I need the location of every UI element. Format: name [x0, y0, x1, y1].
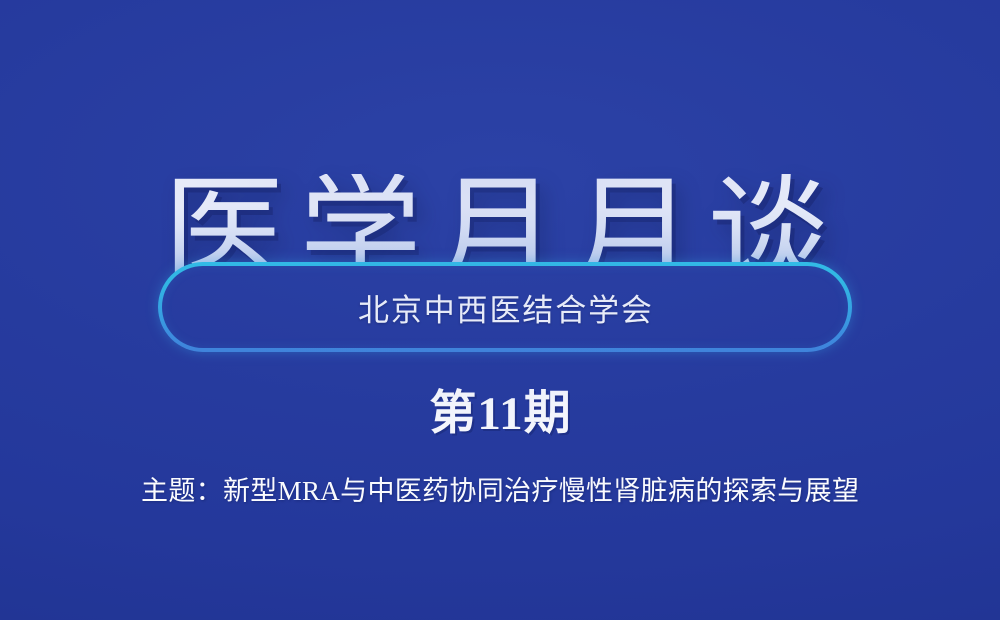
poster-canvas: 医学月月谈 北京中西医结合学会 第11期 主题：新型MRA与中医药协同治疗慢性肾… — [0, 0, 1000, 620]
organization-name: 北京中西医结合学会 — [356, 285, 654, 330]
subject-line: 主题：新型MRA与中医药协同治疗慢性肾脏病的探索与展望 — [0, 474, 1000, 509]
episode-number: 第11期 — [0, 387, 1000, 441]
organization-pill: 北京中西医结合学会 — [158, 262, 852, 352]
